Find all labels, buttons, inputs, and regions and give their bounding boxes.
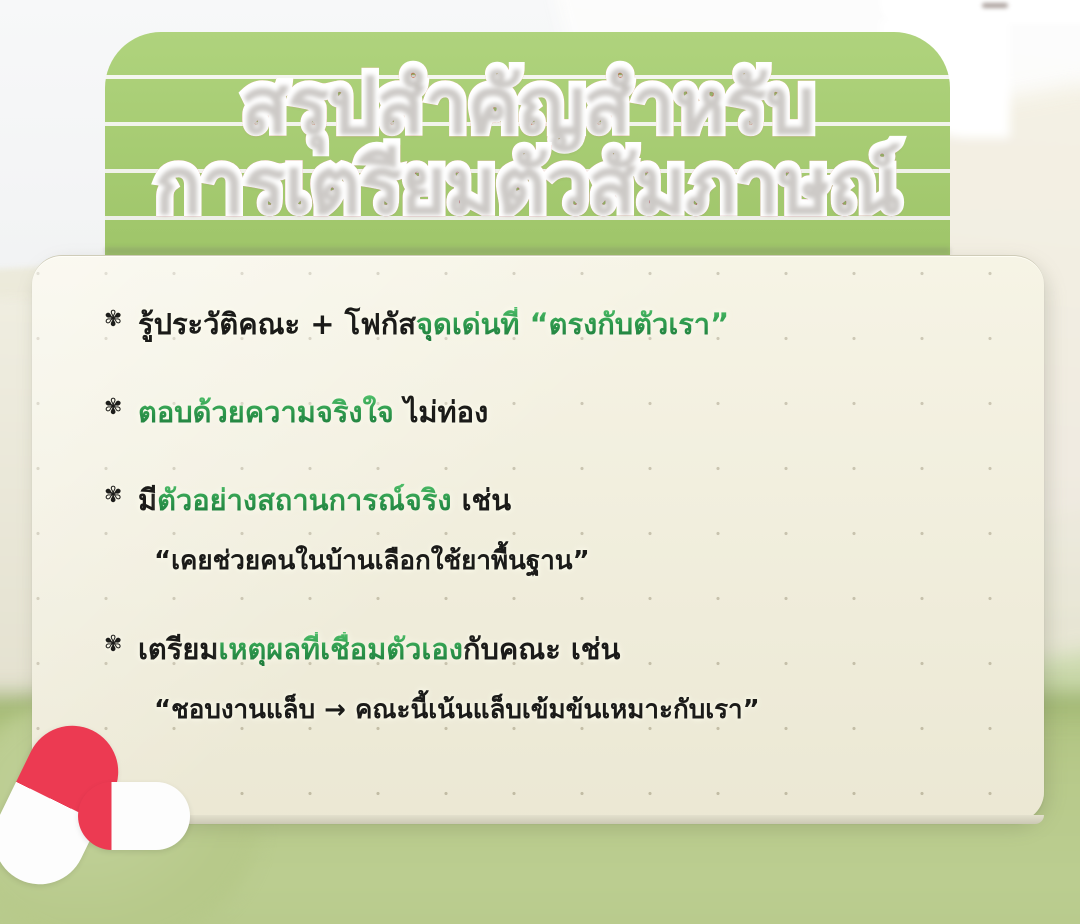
title-line-2: การเตรียมตัวสัมภาษณ์ bbox=[155, 145, 901, 223]
tips-list: ✾ รู้ประวัติคณะ + โฟกัสจุดเด่นที่ “ตรงกั… bbox=[32, 255, 1044, 821]
flower-bullet-icon: ✾ bbox=[104, 628, 138, 661]
poster-title: สรุปสำคัญสำหรับ การเตรียมตัวสัมภาษณ์ bbox=[105, 32, 950, 255]
text-segment-accent: ตัวอย่างสถานการณ์จริง bbox=[157, 483, 451, 517]
capsule-pill-icon-2 bbox=[78, 782, 190, 850]
list-item: ✾ รู้ประวัติคณะ + โฟกัสจุดเด่นที่ “ตรงกั… bbox=[104, 303, 1004, 345]
list-item: ✾ มีตัวอย่างสถานการณ์จริง เช่น bbox=[104, 479, 1004, 521]
flower-bullet-icon: ✾ bbox=[104, 479, 138, 512]
text-segment: กับคณะ เช่น bbox=[463, 632, 620, 666]
text-segment: ไม่ท่อง bbox=[394, 395, 489, 429]
text-segment: เตรียม bbox=[138, 632, 218, 666]
title-line-1: สรุปสำคัญสำหรับ bbox=[241, 65, 814, 143]
text-segment: รู้ประวัติคณะ + โฟกัส bbox=[138, 307, 416, 341]
list-item-example: “เคยช่วยคนในบ้านเลือกใช้ยาพื้นฐาน” bbox=[154, 543, 1004, 579]
list-item-text: มีตัวอย่างสถานการณ์จริง เช่น bbox=[138, 479, 511, 521]
flower-bullet-icon: ✾ bbox=[104, 303, 138, 336]
flower-bullet-icon: ✾ bbox=[104, 391, 138, 424]
text-segment-accent: เหตุผลที่เชื่อมตัวเอง bbox=[218, 632, 462, 666]
text-segment: เช่น bbox=[452, 483, 512, 517]
poster-stage: สรุปสำคัญสำหรับ การเตรียมตัวสัมภาษณ์ ✾ ร… bbox=[0, 0, 1080, 924]
text-segment: มี bbox=[138, 483, 157, 517]
list-item-text: รู้ประวัติคณะ + โฟกัสจุดเด่นที่ “ตรงกับต… bbox=[138, 303, 729, 345]
list-item-example: “ชอบงานแล็บ → คณะนี้เน้นแล็บเข้มข้นเหมาะ… bbox=[154, 692, 1004, 728]
list-item: ✾ เตรียมเหตุผลที่เชื่อมตัวเองกับคณะ เช่น bbox=[104, 628, 1004, 670]
list-item-text: เตรียมเหตุผลที่เชื่อมตัวเองกับคณะ เช่น bbox=[138, 628, 620, 670]
text-segment-accent: จุดเด่นที่ “ตรงกับตัวเรา” bbox=[416, 307, 729, 341]
list-item: ✾ ตอบด้วยความจริงใจ ไม่ท่อง bbox=[104, 391, 1004, 433]
list-item-text: ตอบด้วยความจริงใจ ไม่ท่อง bbox=[138, 391, 488, 433]
text-segment-accent: ตอบด้วยความจริงใจ bbox=[138, 395, 394, 429]
background-top-dash bbox=[982, 3, 1008, 8]
